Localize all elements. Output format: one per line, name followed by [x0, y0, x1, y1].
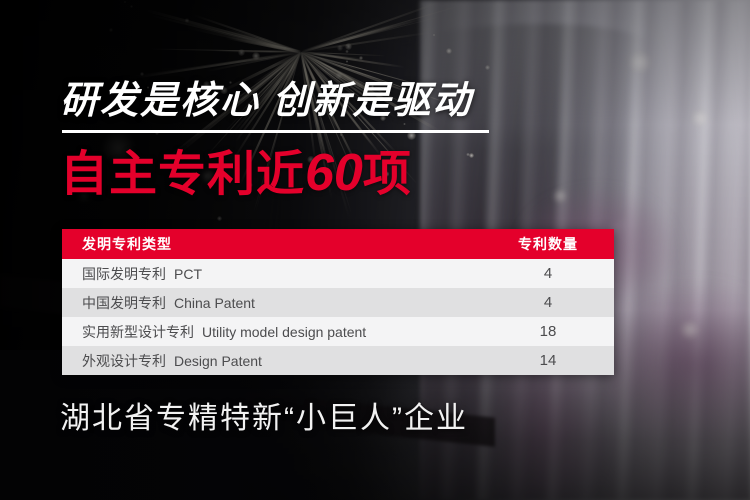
patent-type-cn: 中国发明专利: [82, 295, 166, 311]
headline-secondary-suffix: 项: [363, 148, 412, 201]
patent-table: 发明专利类型 专利数量 国际发明专利PCT 4 中国发明专利China Pate…: [62, 229, 614, 375]
patent-type-en: China Patent: [174, 295, 255, 311]
patent-type-en: PCT: [174, 266, 202, 282]
cell-patent-count: 4: [482, 288, 614, 317]
cell-patent-type: 外观设计专利Design Patent: [62, 346, 482, 375]
patent-table-head: 发明专利类型 专利数量: [62, 229, 614, 259]
column-header-patent-count: 专利数量: [482, 229, 614, 259]
table-row: 实用新型设计专利Utility model design patent 18: [62, 317, 614, 346]
footer-tagline: 湖北省专精特新“小巨人”企业: [60, 398, 468, 440]
cell-patent-count: 4: [482, 259, 614, 288]
patent-type-cn: 国际发明专利: [82, 266, 166, 282]
cell-patent-type: 中国发明专利China Patent: [62, 288, 482, 317]
patent-poster: 研发是核心 创新是驱动 自主专利近60项 发明专利类型 专利数量 国际发明专利P…: [0, 0, 750, 500]
column-header-patent-type: 发明专利类型: [62, 229, 482, 259]
poster-content: 研发是核心 创新是驱动 自主专利近60项 发明专利类型 专利数量 国际发明专利P…: [0, 0, 750, 500]
table-row: 国际发明专利PCT 4: [62, 259, 614, 288]
table-row: 中国发明专利China Patent 4: [62, 288, 614, 317]
headline-secondary-number: 60: [305, 144, 363, 202]
headline-secondary: 自主专利近60项: [60, 143, 412, 205]
patent-table-body: 国际发明专利PCT 4 中国发明专利China Patent 4 实用新型设计专…: [62, 259, 614, 375]
cell-patent-type: 实用新型设计专利Utility model design patent: [62, 317, 482, 346]
headline-divider: [62, 130, 489, 133]
patent-type-en: Utility model design patent: [202, 324, 366, 340]
patent-type-cn: 外观设计专利: [82, 353, 166, 369]
headline-primary: 研发是核心 创新是驱动: [60, 78, 473, 124]
cell-patent-count: 14: [482, 346, 614, 375]
patent-type-cn: 实用新型设计专利: [82, 324, 194, 340]
cell-patent-type: 国际发明专利PCT: [62, 259, 482, 288]
patent-type-en: Design Patent: [174, 353, 262, 369]
table-row: 外观设计专利Design Patent 14: [62, 346, 614, 375]
cell-patent-count: 18: [482, 317, 614, 346]
table-header-row: 发明专利类型 专利数量: [62, 229, 614, 259]
headline-secondary-prefix: 自主专利近: [60, 148, 305, 201]
